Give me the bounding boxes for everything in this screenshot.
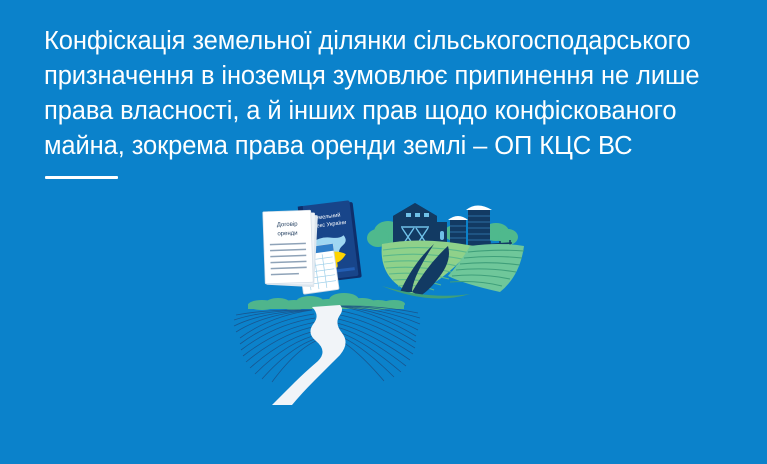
barn-icon	[393, 203, 447, 247]
valley-river-fields-scene	[234, 293, 420, 405]
lease-contract-document: Договір оренди	[263, 210, 318, 287]
calendar-table-card	[297, 244, 339, 295]
promo-banner: Конфіскація земельної ділянки сільського…	[0, 0, 767, 464]
tree-line	[248, 293, 405, 310]
fence-icon	[446, 240, 512, 256]
page-title: Конфіскація земельної ділянки сільського…	[44, 24, 724, 164]
furrowed-fields-left	[234, 310, 324, 382]
document-title-line-1: Договір	[277, 222, 299, 229]
title-divider	[45, 176, 118, 179]
book-title-line-1: Земельний	[311, 212, 340, 222]
farm-fields-scene	[367, 203, 524, 299]
silo-large-icon	[466, 206, 492, 247]
land-code-book: Земельний кодекс України	[298, 200, 362, 284]
winding-river	[272, 305, 346, 405]
furrowed-fields-right	[328, 306, 420, 381]
book-title-line-2: кодекс України	[308, 220, 347, 231]
document-text-lines	[270, 243, 307, 274]
document-title-line-2: оренди	[277, 231, 297, 238]
silo-small-icon	[448, 216, 468, 246]
